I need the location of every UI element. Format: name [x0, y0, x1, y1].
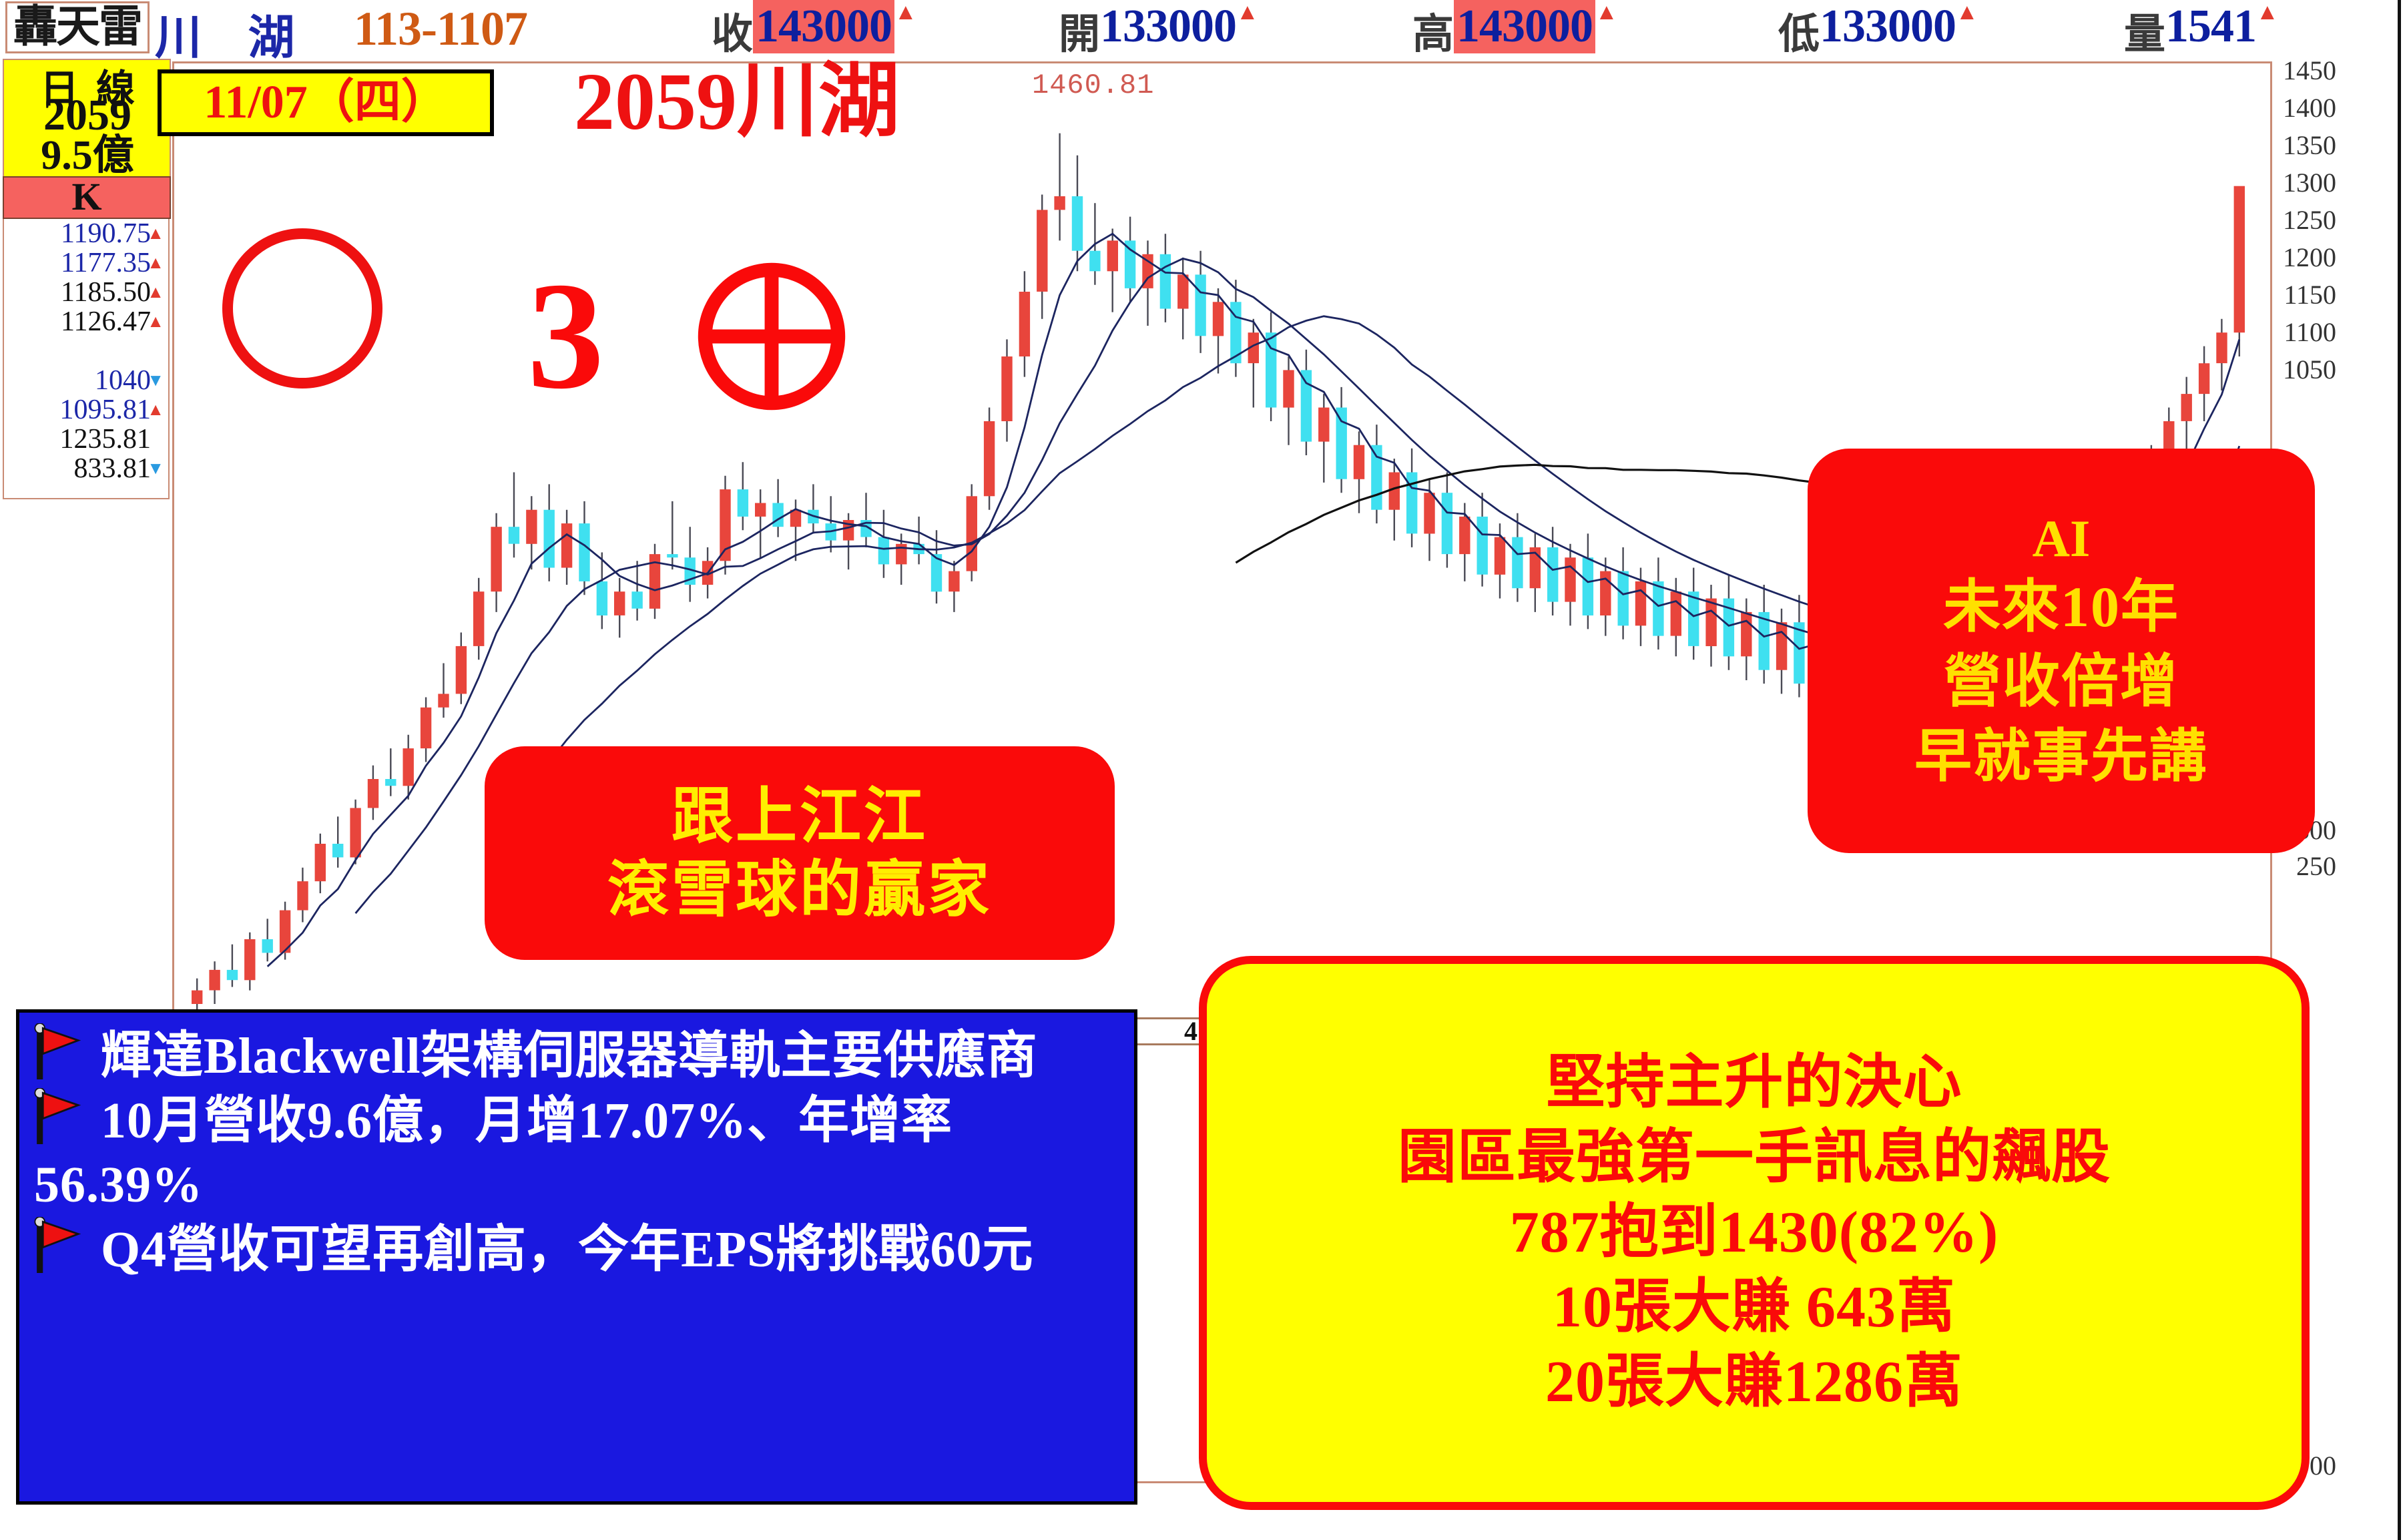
indicator-up-icon: ▲	[147, 219, 164, 248]
period-summary-box[interactable]: 日線 2059 9.5億	[3, 59, 171, 178]
date-badge: 11/07（四）	[158, 69, 494, 136]
callout-red-middle: 跟上江江 滾雪球的贏家	[485, 746, 1115, 960]
quote-field-high: 高 143000 ▲	[1412, 0, 1618, 60]
indicator-row: 1040 ▼	[4, 366, 168, 395]
yellow-line-2: 園區最強第一手訊息的飆股	[1398, 1121, 2111, 1196]
y-tick-label: 1400	[2229, 92, 2336, 123]
y-tick-label: 1100	[2229, 316, 2336, 348]
indicator-row: 1126.47 ▲	[4, 307, 168, 336]
page-title: 2059川湖	[574, 61, 900, 143]
blue-bullet-1-text: 輝達Blackwell架構伺服器導軌主要供應商	[101, 1028, 1038, 1084]
y-tick-label: 1450	[2229, 55, 2336, 86]
callout-yellow-summary: 堅持主升的決心 園區最強第一手訊息的飆股 787抱到1430(82%) 10張大…	[1199, 956, 2310, 1510]
highlight-circle-annotation	[228, 234, 377, 383]
high-label: 高	[1412, 0, 1454, 60]
quote-field-low: 低 133000 ▲	[1778, 0, 1978, 60]
chart-type-badge[interactable]: K	[3, 176, 171, 219]
quote-ticker-bar: 轟天雷 川 湖 113-1107 收 143000 ▲ 開 133000 ▲ 高…	[0, 0, 2407, 56]
y-tick-label: 1200	[2229, 242, 2336, 273]
low-label: 低	[1778, 0, 1820, 60]
indicator-value: 1177.35	[61, 248, 151, 278]
blue-bullet-1: 輝達Blackwell架構伺服器導軌主要供應商	[34, 1023, 1119, 1088]
blue-bullet-3-text: Q4營收可望再創高，今年EPS將挑戰60元	[101, 1222, 1034, 1278]
indicator-row-spacer	[4, 336, 168, 366]
y-tick-label: 1250	[2229, 204, 2336, 236]
callout-ai-line3: 早就事先講	[1914, 719, 2208, 794]
low-direction-icon: ▲	[1956, 0, 1978, 25]
volume-direction-icon: ▲	[2256, 0, 2279, 25]
stock-chart-screen: 轟天雷 川 湖 113-1107 收 143000 ▲ 開 133000 ▲ 高…	[0, 0, 2407, 1540]
indicator-value: 833.81	[74, 453, 152, 484]
indicator-value: 1040	[95, 365, 151, 396]
callout-red-middle-line1: 跟上江江	[672, 780, 928, 853]
indicator-value-list: 1190.75 ▲ 1177.35 ▲ 1185.50 ▲ 1126.47 ▲ …	[3, 219, 170, 499]
rank-number: 3	[527, 259, 604, 413]
indicator-row: 1095.81 ▲	[4, 395, 168, 425]
indicator-down-icon: ▼	[147, 366, 164, 395]
callout-ai-line2: 營收倍增	[1944, 644, 2179, 719]
window-right-edge	[2398, 0, 2401, 1540]
high-direction-icon: ▲	[1595, 0, 1618, 25]
open-direction-icon: ▲	[1236, 0, 1259, 25]
open-value: 133000	[1100, 0, 1236, 53]
indicator-value: 1235.81	[60, 424, 152, 455]
high-value: 143000	[1454, 0, 1595, 53]
indicator-row: 1177.35 ▲	[4, 248, 168, 278]
indicator-value: 1095.81	[60, 395, 152, 425]
yellow-line-1: 堅持主升的決心	[1546, 1046, 1962, 1121]
stock-code: 2059	[4, 95, 171, 136]
y-tick-label: 1150	[2229, 279, 2336, 310]
earth-cross-icon	[694, 254, 849, 419]
close-value: 143000	[753, 0, 894, 53]
y-tick-label: 1300	[2229, 167, 2336, 198]
close-direction-icon: ▲	[894, 0, 917, 25]
indicator-row: 1190.75 ▲	[4, 219, 168, 248]
quote-field-volume: 量 1541 ▲	[2124, 0, 2279, 60]
volume-label: 量	[2124, 0, 2165, 60]
turnover-value: 9.5億	[4, 135, 171, 176]
indicator-value: 1190.75	[61, 218, 151, 249]
blue-bullet-2: 10月營收9.6億，月增17.07%、年增率56.39%	[34, 1088, 1119, 1217]
yellow-line-4: 10張大賺 643萬	[1553, 1270, 1956, 1345]
red-flag-icon	[34, 1217, 83, 1273]
indicator-up-icon: ▲	[147, 278, 164, 307]
indicator-row: 1235.81	[4, 425, 168, 454]
left-info-panel: 日線 2059 9.5億 K 1190.75 ▲ 1177.35 ▲ 1185.…	[3, 59, 171, 619]
quote-field-open: 開 133000 ▲	[1059, 0, 1259, 60]
indicator-up-icon: ▲	[147, 395, 164, 425]
indicator-value: 1126.47	[61, 306, 151, 337]
red-flag-icon	[34, 1023, 83, 1079]
low-value: 133000	[1820, 0, 1956, 53]
y-tick-label: 1050	[2229, 354, 2336, 385]
yellow-line-5: 20張大賺1286萬	[1545, 1345, 1963, 1420]
open-label: 開	[1059, 0, 1100, 60]
indicator-up-icon: ▲	[147, 248, 164, 278]
yellow-line-3: 787抱到1430(82%)	[1510, 1196, 1999, 1270]
date-code: 113-1107	[354, 1, 527, 57]
indicator-row: 1185.50 ▲	[4, 278, 168, 307]
stock-name: 川 湖	[155, 0, 312, 67]
period-high-annotation: 1460.81	[1032, 69, 1154, 101]
indicator-row: 833.81 ▼	[4, 454, 168, 483]
callout-blue-news: 輝達Blackwell架構伺服器導軌主要供應商 10月營收9.6億，月增17.0…	[16, 1009, 1137, 1505]
indicator-value: 1185.50	[61, 277, 151, 308]
red-flag-icon	[34, 1088, 83, 1144]
close-label: 收	[712, 0, 753, 60]
indicator-down-icon: ▼	[147, 454, 164, 483]
volume-value: 1541	[2165, 0, 2256, 53]
y-tick-label: 1350	[2229, 130, 2336, 161]
quote-field-close: 收 143000 ▲	[712, 0, 917, 60]
callout-red-middle-line2: 滾雪球的贏家	[607, 853, 992, 927]
callout-ai-line1: 未來10年	[1943, 569, 2179, 644]
callout-ai-heading: AI	[2033, 508, 2091, 569]
y-tick-label-volume: 250	[2229, 850, 2336, 882]
brand-logo: 轟天雷	[5, 1, 150, 53]
blue-bullet-2-text: 10月營收9.6億，月增17.07%、年增率56.39%	[34, 1093, 953, 1213]
indicator-up-icon: ▲	[147, 307, 164, 336]
blue-bullet-3: Q4營收可望再創高，今年EPS將挑戰60元	[34, 1217, 1119, 1282]
callout-red-ai: AI 未來10年 營收倍增 早就事先講	[1808, 449, 2315, 853]
